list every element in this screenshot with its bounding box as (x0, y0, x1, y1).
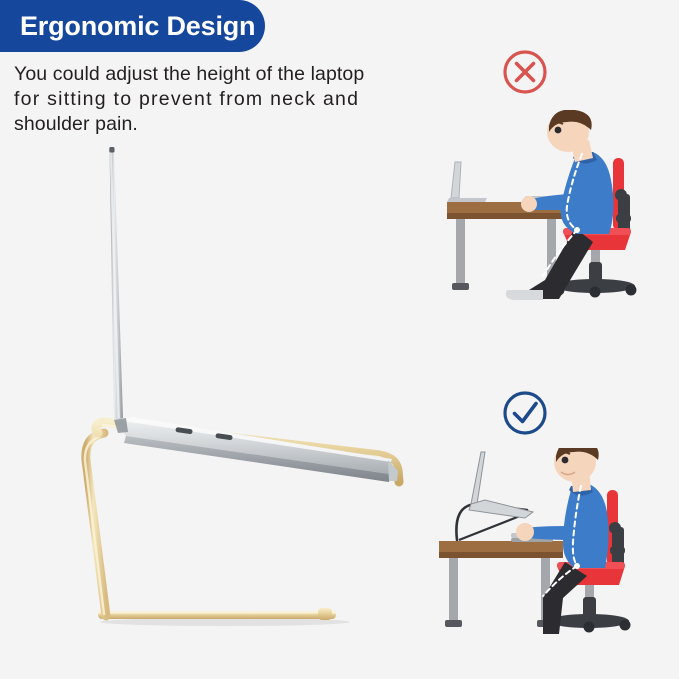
status-badge-correct (502, 390, 548, 436)
product-shadow (100, 618, 350, 626)
laptop-screen (109, 147, 123, 420)
page-title: Ergonomic Design (20, 11, 255, 42)
stand-bottom-bar (98, 608, 336, 620)
description-line-1: You could adjust the height of the lapto… (14, 62, 434, 87)
header-banner: Ergonomic Design (0, 0, 265, 52)
product-feature-image: Ergonomic Design You could adjust the he… (0, 0, 679, 679)
status-badge-incorrect (502, 49, 548, 95)
illustration-upright-posture (425, 448, 675, 643)
product-photo (40, 130, 440, 650)
illustration-slouched-posture (425, 110, 675, 305)
stand-leg (86, 433, 106, 616)
check-circle-icon (505, 393, 545, 433)
description-text: You could adjust the height of the lapto… (14, 62, 434, 137)
description-line-2: for sitting to prevent from neck and (14, 87, 434, 112)
